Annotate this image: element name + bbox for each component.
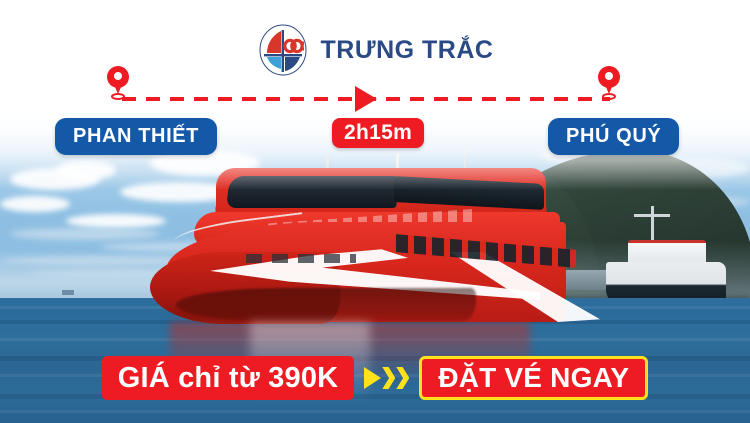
origin-city-label: PHAN THIẾT: [55, 118, 217, 155]
price-badge: GIÁ chỉ từ 390K: [102, 356, 355, 400]
trung-trac-ferry-logo-icon: [257, 23, 309, 77]
cloud: [0, 196, 70, 212]
cloud: [10, 228, 160, 240]
trip-duration-badge: 2h15m: [332, 118, 424, 148]
book-now-button[interactable]: ĐẶT VÉ NGAY: [419, 356, 648, 400]
tugboat-crossbar: [634, 214, 670, 217]
catamaran-ferry: [150, 160, 580, 330]
cloud: [56, 160, 116, 180]
arrow-right-icon: [355, 86, 377, 112]
brand-name: TRƯNG TRẮC: [321, 36, 494, 65]
destination-map-pin-icon: [596, 66, 622, 102]
ferry-route-promo-banner: TRƯNG TRẮC PHAN THIẾT PHÚ QUÝ 2h15m GIÁ …: [0, 0, 750, 423]
chevrons-right-icon: [364, 356, 409, 400]
origin-map-pin-icon: [105, 66, 131, 102]
cta-row: GIÁ chỉ từ 390K ĐẶT VÉ NGAY: [0, 354, 750, 402]
destination-city-label: PHÚ QUÝ: [548, 118, 679, 155]
distant-ship: [62, 290, 74, 295]
